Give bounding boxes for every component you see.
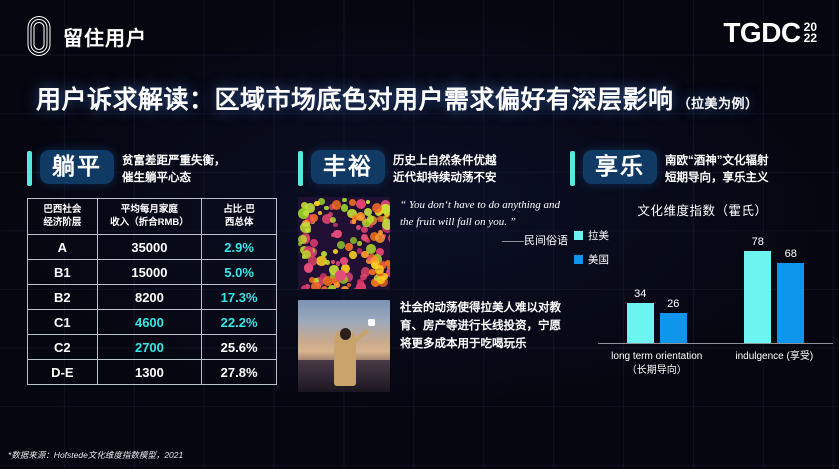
brand-name: TGDC: [723, 17, 800, 49]
media-row-quote: “ You don‘t have to do anything and the …: [298, 197, 568, 289]
fruit-market-photo: [298, 197, 390, 289]
source-footnote: *数据来源：Hofstede文化维度指数模型，2021: [8, 449, 183, 461]
page-title-main: 用户诉求解读：区域市场底色对用户需求偏好有深层影响: [36, 80, 674, 116]
bar-value-label: 34: [634, 288, 646, 300]
cell-income: 35000: [97, 235, 202, 260]
table-header-tier: 巴西社会 经济阶层: [28, 199, 98, 235]
chart-bar-groups: 34267868: [598, 226, 833, 343]
cell-share: 17.3%: [202, 285, 277, 310]
cell-tier: B2: [28, 285, 98, 310]
panel-header: 躺平 贫富差距严重失衡， 催生躺平心态: [27, 150, 277, 186]
folk-quote-attribution: ——民间俗语: [400, 233, 568, 250]
legend-swatch: [574, 255, 583, 264]
panel-badge: 享乐: [583, 150, 657, 184]
table-row: D-E130027.8%: [28, 360, 277, 385]
table-row: C1460022.2%: [28, 310, 277, 335]
accent-bar: [570, 151, 575, 186]
cell-share: 25.6%: [202, 335, 277, 360]
cell-tier: C2: [28, 335, 98, 360]
panel-tangping: 躺平 贫富差距严重失衡， 催生躺平心态 巴西社会 经济阶层 平均每月家庭 收入（…: [27, 150, 277, 385]
bar: 34: [627, 303, 654, 343]
bar-value-label: 26: [667, 298, 679, 310]
brazil-income-table: 巴西社会 经济阶层 平均每月家庭 收入（折合RMB） 占比-巴 西总体 A350…: [27, 198, 277, 385]
cell-tier: B1: [28, 260, 98, 285]
brand-year: 20 22: [804, 22, 817, 45]
panel-description: 贫富差距严重失衡， 催生躺平心态: [122, 150, 226, 186]
panel-description: 历史上自然条件优越 近代却持续动荡不安: [393, 150, 497, 186]
bar-value-label: 68: [785, 248, 797, 260]
x-axis-label: long term orientation （长期导向）: [598, 350, 716, 377]
cell-income: 2700: [97, 335, 202, 360]
media-row-body: 社会的动荡使得拉美人难以对教育、房产等进行长线投资，宁愿将更多成本用于吃喝玩乐: [298, 300, 568, 392]
bar-group: 3426: [598, 226, 716, 343]
chart-title: 文化维度指数（霍氏）: [570, 200, 835, 219]
folk-quote-text: “ You don‘t have to do anything and the …: [400, 199, 560, 228]
page-title-sub: （拉美为例）: [678, 93, 759, 112]
table-row: B2820017.3%: [28, 285, 277, 310]
table-row: B1150005.0%: [28, 260, 277, 285]
cell-income: 8200: [97, 285, 202, 310]
bar: 26: [660, 313, 687, 344]
bar-value-label: 78: [752, 236, 764, 248]
panel-body-text: 社会的动荡使得拉美人难以对教育、房产等进行长线投资，宁愿将更多成本用于吃喝玩乐: [400, 300, 568, 353]
table-row: C2270025.6%: [28, 335, 277, 360]
tgdc-logo: TGDC 20 22: [723, 17, 817, 49]
table-header-share: 占比-巴 西总体: [202, 199, 277, 235]
cell-tier: C1: [28, 310, 98, 335]
kicker-label: 留住用户: [63, 22, 147, 51]
cell-income: 4600: [97, 310, 202, 335]
cell-income: 15000: [97, 260, 202, 285]
table-row: A350002.9%: [28, 235, 277, 260]
panel-fengyu: 丰裕 历史上自然条件优越 近代却持续动荡不安 “ You don‘t have …: [298, 150, 568, 392]
panel-header: 享乐 南欧“酒神”文化辐射 短期导向，享乐主义: [570, 150, 835, 186]
bar: 78: [744, 251, 771, 343]
table-header-income: 平均每月家庭 收入（折合RMB）: [97, 199, 202, 235]
cell-share: 5.0%: [202, 260, 277, 285]
section-kicker: 留住用户: [27, 16, 147, 56]
brand-year-bottom: 22: [804, 33, 817, 44]
legend-swatch: [574, 231, 583, 240]
pill-rings-icon: [27, 16, 50, 56]
folk-quote: “ You don‘t have to do anything and the …: [400, 197, 568, 250]
hofstede-bar-chart: 文化维度指数（霍氏） 拉美美国 34267868 long term orien…: [570, 200, 835, 390]
cell-share: 2.9%: [202, 235, 277, 260]
accent-bar: [298, 151, 303, 186]
panel-header: 丰裕 历史上自然条件优越 近代却持续动荡不安: [298, 150, 568, 186]
cell-tier: A: [28, 235, 98, 260]
bar-group: 7868: [716, 226, 834, 343]
cell-tier: D-E: [28, 360, 98, 385]
chart-x-axis-labels: long term orientation （长期导向）indulgence (…: [598, 350, 833, 377]
panel-xiangle: 享乐 南欧“酒神”文化辐射 短期导向，享乐主义 文化维度指数（霍氏） 拉美美国 …: [570, 150, 835, 390]
accent-bar: [27, 151, 32, 186]
panel-badge: 躺平: [40, 150, 114, 184]
woman-sunset-toast-photo: [298, 300, 390, 392]
table-body: A350002.9%B1150005.0%B2820017.3%C1460022…: [28, 235, 277, 385]
bar: 68: [777, 263, 804, 343]
cell-income: 1300: [97, 360, 202, 385]
panel-description: 南欧“酒神”文化辐射 短期导向，享乐主义: [665, 150, 769, 186]
page-title: 用户诉求解读：区域市场底色对用户需求偏好有深层影响（拉美为例）: [36, 80, 759, 116]
panel-badge: 丰裕: [311, 150, 385, 184]
cell-share: 27.8%: [202, 360, 277, 385]
x-axis-label: indulgence (享受): [716, 350, 834, 377]
chart-plot-area: 34267868: [598, 226, 833, 344]
cell-share: 22.2%: [202, 310, 277, 335]
table-header-row: 巴西社会 经济阶层 平均每月家庭 收入（折合RMB） 占比-巴 西总体: [28, 199, 277, 235]
